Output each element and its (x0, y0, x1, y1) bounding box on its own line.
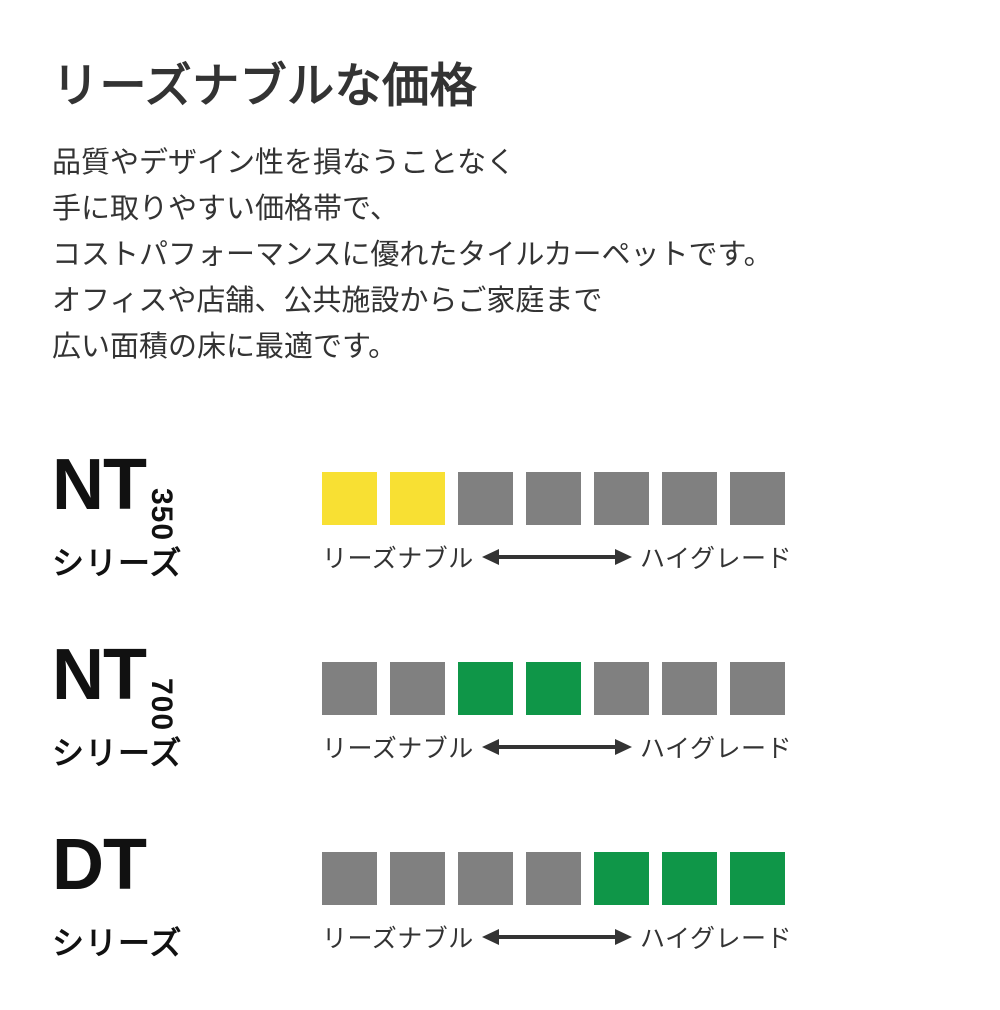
swatch-strip (322, 662, 792, 715)
series-row: NT 700 シリーズ リーズナブル ハイグレード (0, 630, 1000, 820)
scale-axis: リーズナブル ハイグレード (322, 729, 792, 765)
swatch-2-gray (390, 852, 445, 905)
series-code: NT (52, 642, 146, 708)
series-label-nt700: NT 700 シリーズ (52, 642, 292, 774)
scale-left-label: リーズナブル (322, 539, 474, 575)
series-code-line: DT (52, 832, 292, 906)
series-number: 350 (146, 488, 176, 514)
swatch-6-gray (662, 662, 717, 715)
description-line: 手に取りやすい価格帯で、 (52, 187, 952, 233)
swatch-1-gray (322, 662, 377, 715)
series-scale-nt700: リーズナブル ハイグレード (322, 662, 792, 765)
swatch-4-gray (526, 472, 581, 525)
swatch-5-gray (594, 472, 649, 525)
scale-right-label: ハイグレード (640, 539, 792, 575)
swatch-3-gray (458, 852, 513, 905)
swatch-6-gray (662, 472, 717, 525)
series-scale-dt: リーズナブル ハイグレード (322, 852, 792, 955)
series-code: NT (52, 452, 146, 518)
swatch-6-green (662, 852, 717, 905)
swatch-7-gray (730, 662, 785, 715)
swatch-5-green (594, 852, 649, 905)
double-headed-arrow-icon (474, 734, 640, 760)
swatch-5-gray (594, 662, 649, 715)
series-code: DT (52, 832, 146, 898)
swatch-3-gray (458, 472, 513, 525)
scale-axis: リーズナブル ハイグレード (322, 539, 792, 575)
description-line: 広い面積の床に最適です。 (52, 325, 952, 371)
swatch-4-green (526, 662, 581, 715)
swatch-7-gray (730, 472, 785, 525)
scale-axis: リーズナブル ハイグレード (322, 919, 792, 955)
page-title: リーズナブルな価格 (52, 58, 952, 113)
series-label-dt: DT シリーズ (52, 832, 292, 964)
description-text: 品質やデザイン性を損なうことなく 手に取りやすい価格帯で、 コストパフォーマンス… (52, 141, 952, 370)
series-scale-nt350: リーズナブル ハイグレード (322, 472, 792, 575)
series-row: NT 350 シリーズ リーズナブル ハイグレード (0, 440, 1000, 630)
double-headed-arrow-icon (474, 544, 640, 570)
series-suffix: シリーズ (52, 728, 292, 774)
swatch-strip (322, 852, 792, 905)
swatch-3-green (458, 662, 513, 715)
series-suffix: シリーズ (52, 538, 292, 584)
intro-section: リーズナブルな価格 品質やデザイン性を損なうことなく 手に取りやすい価格帯で、 … (52, 58, 952, 371)
series-label-nt350: NT 350 シリーズ (52, 452, 292, 584)
swatch-1-yellow (322, 472, 377, 525)
swatch-2-yellow (390, 472, 445, 525)
scale-right-label: ハイグレード (640, 729, 792, 765)
series-comparison-list: NT 350 シリーズ リーズナブル ハイグレード (0, 440, 1000, 1010)
series-number: 700 (146, 678, 176, 704)
scale-right-label: ハイグレード (640, 919, 792, 955)
scale-left-label: リーズナブル (322, 729, 474, 765)
double-headed-arrow-icon (474, 924, 640, 950)
series-code-line: NT 700 (52, 642, 292, 716)
swatch-2-gray (390, 662, 445, 715)
series-suffix: シリーズ (52, 918, 292, 964)
series-code-line: NT 350 (52, 452, 292, 526)
swatch-1-gray (322, 852, 377, 905)
description-line: 品質やデザイン性を損なうことなく (52, 141, 952, 187)
swatch-7-green (730, 852, 785, 905)
swatch-strip (322, 472, 792, 525)
swatch-4-gray (526, 852, 581, 905)
series-row: DT シリーズ リーズナブル ハイグレード (0, 820, 1000, 1010)
description-line: コストパフォーマンスに優れたタイルカーペットです。 (52, 233, 952, 279)
scale-left-label: リーズナブル (322, 919, 474, 955)
description-line: オフィスや店舗、公共施設からご家庭まで (52, 279, 952, 325)
